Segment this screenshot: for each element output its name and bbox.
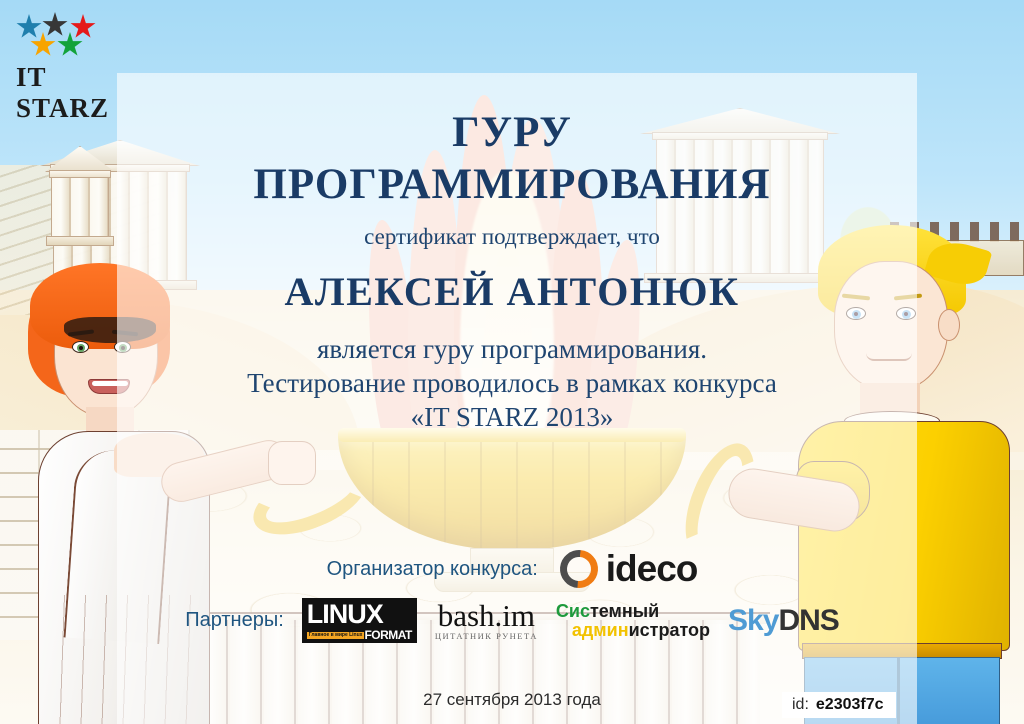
certificate-subtitle: сертификат подтверждает, что [0,224,1024,250]
linux-format-main: LINUX [307,601,383,628]
star-icon-black [42,12,68,38]
ideco-wordmark: ideco [606,548,698,590]
organizer-label: Организатор конкурса: [327,558,538,581]
partner-logo-skydns: SkyDNS [728,604,839,638]
it-starz-logo: IT STARZ [14,14,114,94]
star-icon-green [57,32,83,58]
star-icon-yellow [30,32,56,58]
star-icon-red [70,14,96,40]
ideco-swirl-icon [552,542,606,596]
id-value: e2303f7c [816,696,884,714]
bash-im-main: bash.im [438,600,535,631]
certificate-body-line3: «IT STARZ 2013» [0,402,1024,433]
certificate-title-line2: ПРОГРАММИРОВАНИЯ [0,160,1024,209]
partner-logo-sysadmin: Системный администратор [556,602,710,639]
partners-label: Партнеры: [185,609,284,632]
sysadmin-line2-a: админ [572,620,629,640]
id-label: id: [792,696,809,714]
linux-format-subrow: Главное в мире Linux FORMAT [307,629,412,641]
certificate-title-line1: ГУРУ [0,108,1024,157]
certificate-body-line2: Тестирование проводилось в рамках конкур… [0,368,1024,399]
sysadmin-line2: администратор [572,621,710,639]
linux-format-word: FORMAT [364,629,411,641]
certificate-id-badge: id: e2303f7c [782,692,896,718]
recipient-name: АЛЕКСЕЙ АНТОНЮК [0,268,1024,315]
sysadmin-line1-b: темный [590,601,659,621]
partner-logo-linux-format: LINUX Главное в мире Linux FORMAT [302,598,417,643]
sysadmin-line1-a: Сис [556,601,590,621]
linux-format-tagline: Главное в мире Linux [307,632,365,639]
sysadmin-line1: Системный [556,602,710,620]
certificate-content: IT STARZ ГУРУ ПРОГРАММИРОВАНИЯ сертифика… [0,0,1024,724]
partner-logo-bash-im: bash.im ЦИТАТНИК РУНЕТА [435,600,538,641]
bash-im-sub: ЦИТАТНИК РУНЕТА [435,632,538,641]
sysadmin-line2-b: истратор [629,620,710,640]
skydns-part1: Sky [728,604,778,637]
ideco-logo: ideco [560,548,698,590]
skydns-part2: DNS [778,604,838,637]
star-icon-blue [16,14,42,40]
certificate-canvas: IT STARZ ГУРУ ПРОГРАММИРОВАНИЯ сертифика… [0,0,1024,724]
logo-stars [14,14,110,58]
partners-row: Партнеры: LINUX Главное в мире Linux FOR… [0,598,1024,643]
certificate-body-line1: является гуру программирования. [0,334,1024,365]
organizer-row: Организатор конкурса: ideco [0,548,1024,590]
